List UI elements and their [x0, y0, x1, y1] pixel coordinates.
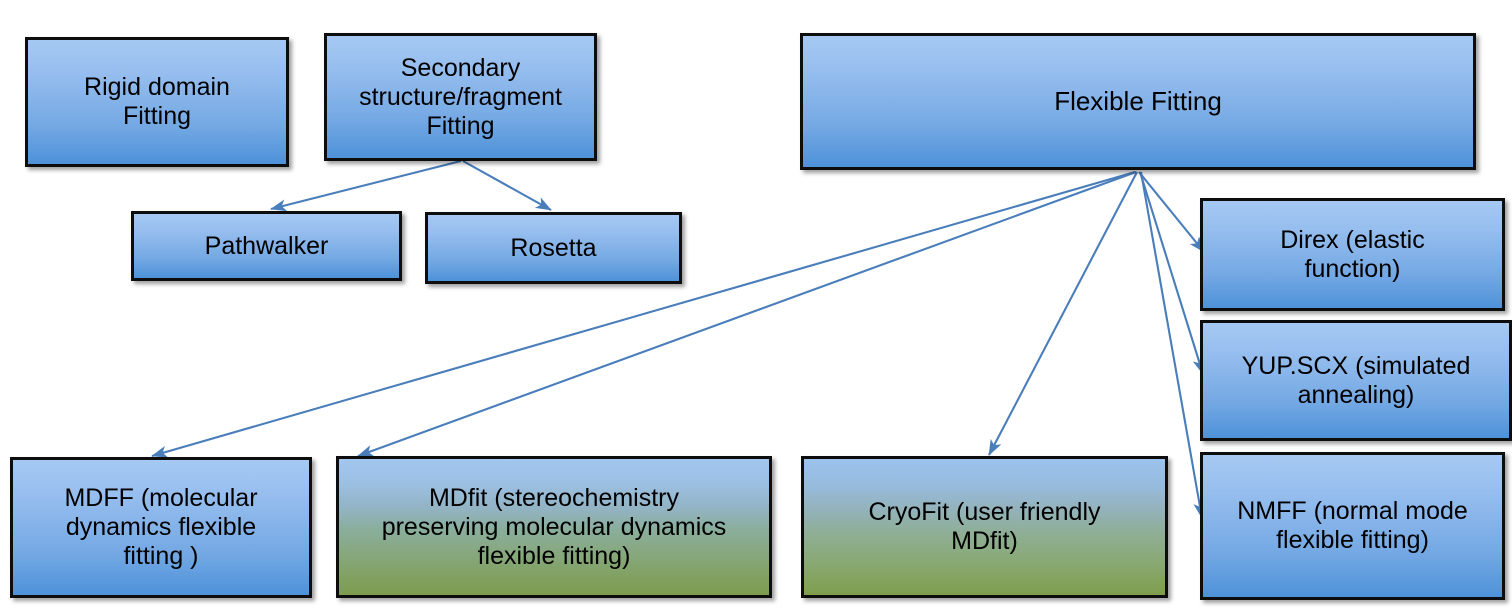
node-label-cryofit: CryoFit (user friendly MDfit) [812, 498, 1157, 556]
diagram-canvas: Rigid domain FittingSecondary structure/… [0, 0, 1512, 610]
arrow-secondary-to-pathwalker [271, 161, 461, 209]
node-label-nmff: NMFF (normal mode flexible fitting) [1211, 497, 1494, 555]
node-nmff[interactable]: NMFF (normal mode flexible fitting) [1200, 452, 1505, 600]
node-direx[interactable]: Direx (elastic function) [1200, 198, 1505, 311]
node-rosetta[interactable]: Rosetta [425, 212, 682, 284]
node-cryofit[interactable]: CryoFit (user friendly MDfit) [801, 456, 1168, 598]
node-label-secondary-structure-fragment-fitting: Secondary structure/fragment Fitting [335, 54, 586, 141]
arrow-secondary-to-rosetta [463, 161, 551, 210]
node-flexible-fitting[interactable]: Flexible Fitting [800, 33, 1476, 170]
arrow-flexible-to-direx [1139, 172, 1204, 252]
node-label-mdfit: MDfit (stereochemistry preserving molecu… [347, 484, 761, 571]
node-label-mdff: MDFF (molecular dynamics flexible fittin… [21, 484, 301, 571]
node-label-rigid-domain-fitting: Rigid domain Fitting [36, 73, 278, 131]
node-label-yup-scx: YUP.SCX (simulated annealing) [1211, 352, 1501, 410]
node-yup-scx[interactable]: YUP.SCX (simulated annealing) [1200, 320, 1512, 441]
node-label-direx: Direx (elastic function) [1211, 226, 1494, 284]
node-mdff[interactable]: MDFF (molecular dynamics flexible fittin… [10, 457, 312, 598]
node-secondary-structure-fragment-fitting[interactable]: Secondary structure/fragment Fitting [324, 33, 597, 161]
node-label-rosetta: Rosetta [436, 234, 671, 263]
arrow-flexible-to-cryofit [989, 172, 1137, 455]
node-rigid-domain-fitting[interactable]: Rigid domain Fitting [25, 37, 289, 167]
node-label-flexible-fitting: Flexible Fitting [811, 86, 1465, 116]
node-label-pathwalker: Pathwalker [142, 232, 391, 261]
arrow-flexible-to-yupscx [1140, 172, 1203, 374]
node-pathwalker[interactable]: Pathwalker [131, 211, 402, 281]
node-mdfit[interactable]: MDfit (stereochemistry preserving molecu… [336, 456, 772, 598]
